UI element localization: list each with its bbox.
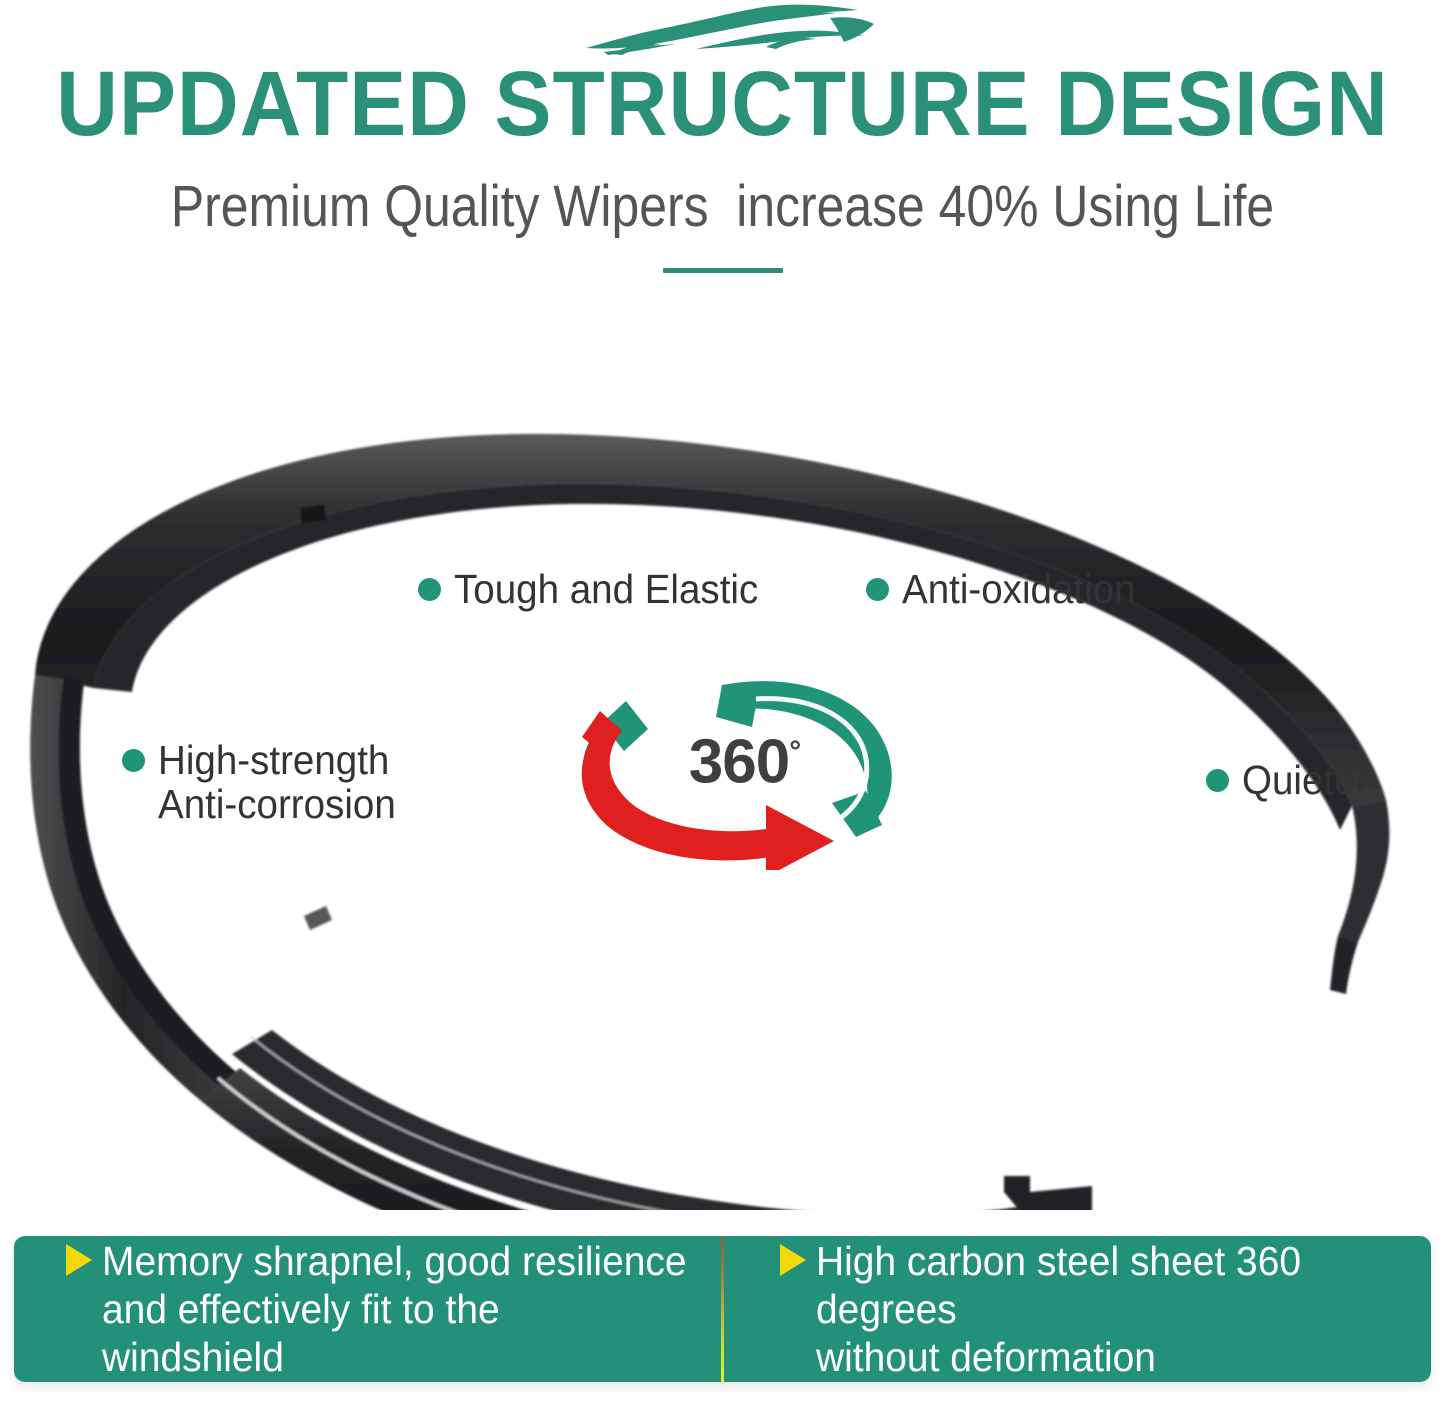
badge-360-label: 360° [570,721,920,794]
callout-label: Quieter [1242,758,1368,802]
feature-banner: Memory shrapnel, good resilience and eff… [14,1236,1431,1382]
bullet-dot-icon [1206,769,1229,792]
badge-360-value: 360 [689,728,789,797]
callout-tough-and-elastic: Tough and Elastic [418,567,778,611]
page-title: UPDATED STRUCTURE DESIGN [51,58,1395,150]
banner-item: High carbon steel sheet 360 degrees with… [780,1237,1431,1381]
callout-label: High-strength Anti-corrosion [158,738,396,826]
feature-banner-left: Memory shrapnel, good resilience and eff… [14,1236,721,1382]
callout-label: Anti-oxidation [902,567,1136,611]
callout-quieter: Quieter [1206,758,1376,802]
triangle-right-icon [66,1244,92,1276]
callout-label: Tough and Elastic [454,567,758,611]
banner-item: Memory shrapnel, good resilience and eff… [66,1237,721,1381]
callout-anti-oxidation: Anti-oxidation [866,567,1150,611]
header-divider [663,268,783,273]
callout-high-strength-anti-corrosion: High-strength Anti-corrosion [122,738,411,826]
banner-right-text: High carbon steel sheet 360 degrees with… [816,1237,1400,1381]
banner-left-text: Memory shrapnel, good resilience and eff… [102,1237,690,1381]
bullet-dot-icon [866,578,889,601]
degree-symbol-icon: ° [789,735,801,768]
bullet-dot-icon [418,578,441,601]
product-infographic-page: UPDATED STRUCTURE DESIGN Premium Quality… [0,0,1445,1421]
page-subtitle: Premium Quality Wipers increase 40% Usin… [101,176,1344,238]
badge-360-degrees: 360° [570,655,920,870]
feature-banner-right: High carbon steel sheet 360 degrees with… [724,1236,1431,1382]
triangle-right-icon [780,1244,806,1276]
bullet-dot-icon [122,749,145,772]
